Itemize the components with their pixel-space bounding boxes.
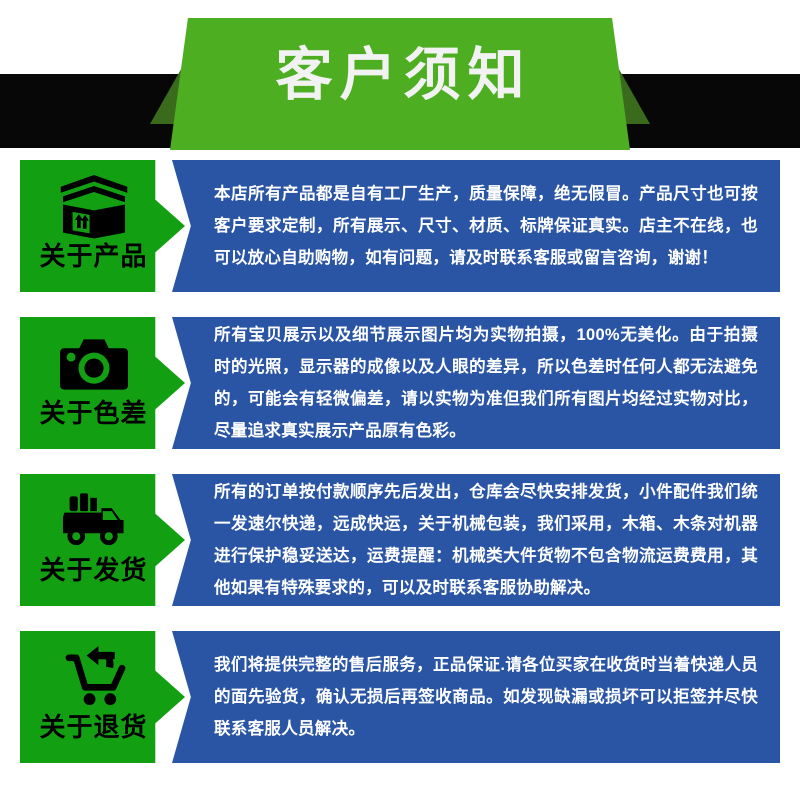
notice-text: 所有宝贝展示以及细节展示图片均为实物拍摄，100%无美化。由于拍摄时的光照，显示…	[172, 319, 780, 448]
notice-row: 关于产品 本店所有产品都是自有工厂生产，质量保障，绝无假冒。产品尺寸也可按客户要…	[0, 160, 800, 292]
notice-text: 本店所有产品都是自有工厂生产，质量保障，绝无假冒。产品尺寸也可按客户要求定制，所…	[172, 178, 780, 275]
notice-row: 关于退货 我们将提供完整的售后服务，正品保证.请各位买家在收货时当着快递人员的面…	[0, 631, 800, 763]
notice-panel: 所有的订单按付款顺序先后发出，仓库会尽快安排发货，小件配件我们统一发速尔快递，远…	[172, 474, 780, 606]
badge-about-product[interactable]: 关于产品	[20, 160, 185, 292]
badge-label: 关于退货	[39, 714, 147, 740]
notice-row: 关于发货 所有的订单按付款顺序先后发出，仓库会尽快安排发货，小件配件我们统一发速…	[0, 474, 800, 606]
notice-panel: 所有宝贝展示以及细节展示图片均为实物拍摄，100%无美化。由于拍摄时的光照，显示…	[172, 317, 780, 449]
badge-label: 关于发货	[39, 557, 147, 583]
camera-icon	[57, 329, 131, 397]
badge-about-shipping[interactable]: 关于发货	[20, 474, 185, 606]
notice-panel: 本店所有产品都是自有工厂生产，质量保障，绝无假冒。产品尺寸也可按客户要求定制，所…	[172, 160, 780, 292]
notice-text: 我们将提供完整的售后服务，正品保证.请各位买家在收货时当着快递人员的面先验货，确…	[172, 649, 780, 746]
notice-panel: 我们将提供完整的售后服务，正品保证.请各位买家在收货时当着快递人员的面先验货，确…	[172, 631, 780, 763]
forklift-truck-icon	[57, 486, 131, 554]
return-cart-icon	[57, 643, 131, 711]
notice-row: 关于色差 所有宝贝展示以及细节展示图片均为实物拍摄，100%无美化。由于拍摄时的…	[0, 317, 800, 449]
badge-about-return[interactable]: 关于退货	[20, 631, 185, 763]
badge-label: 关于产品	[39, 243, 147, 269]
page-title: 客户须知	[0, 0, 800, 150]
badge-about-color[interactable]: 关于色差	[20, 317, 185, 449]
badge-label: 关于色差	[39, 400, 147, 426]
package-box-icon	[57, 172, 131, 240]
page-header: 客户须知	[0, 0, 800, 160]
notice-text: 所有的订单按付款顺序先后发出，仓库会尽快安排发货，小件配件我们统一发速尔快递，远…	[172, 476, 780, 605]
notice-sections: 关于产品 本店所有产品都是自有工厂生产，质量保障，绝无假冒。产品尺寸也可按客户要…	[0, 160, 800, 763]
